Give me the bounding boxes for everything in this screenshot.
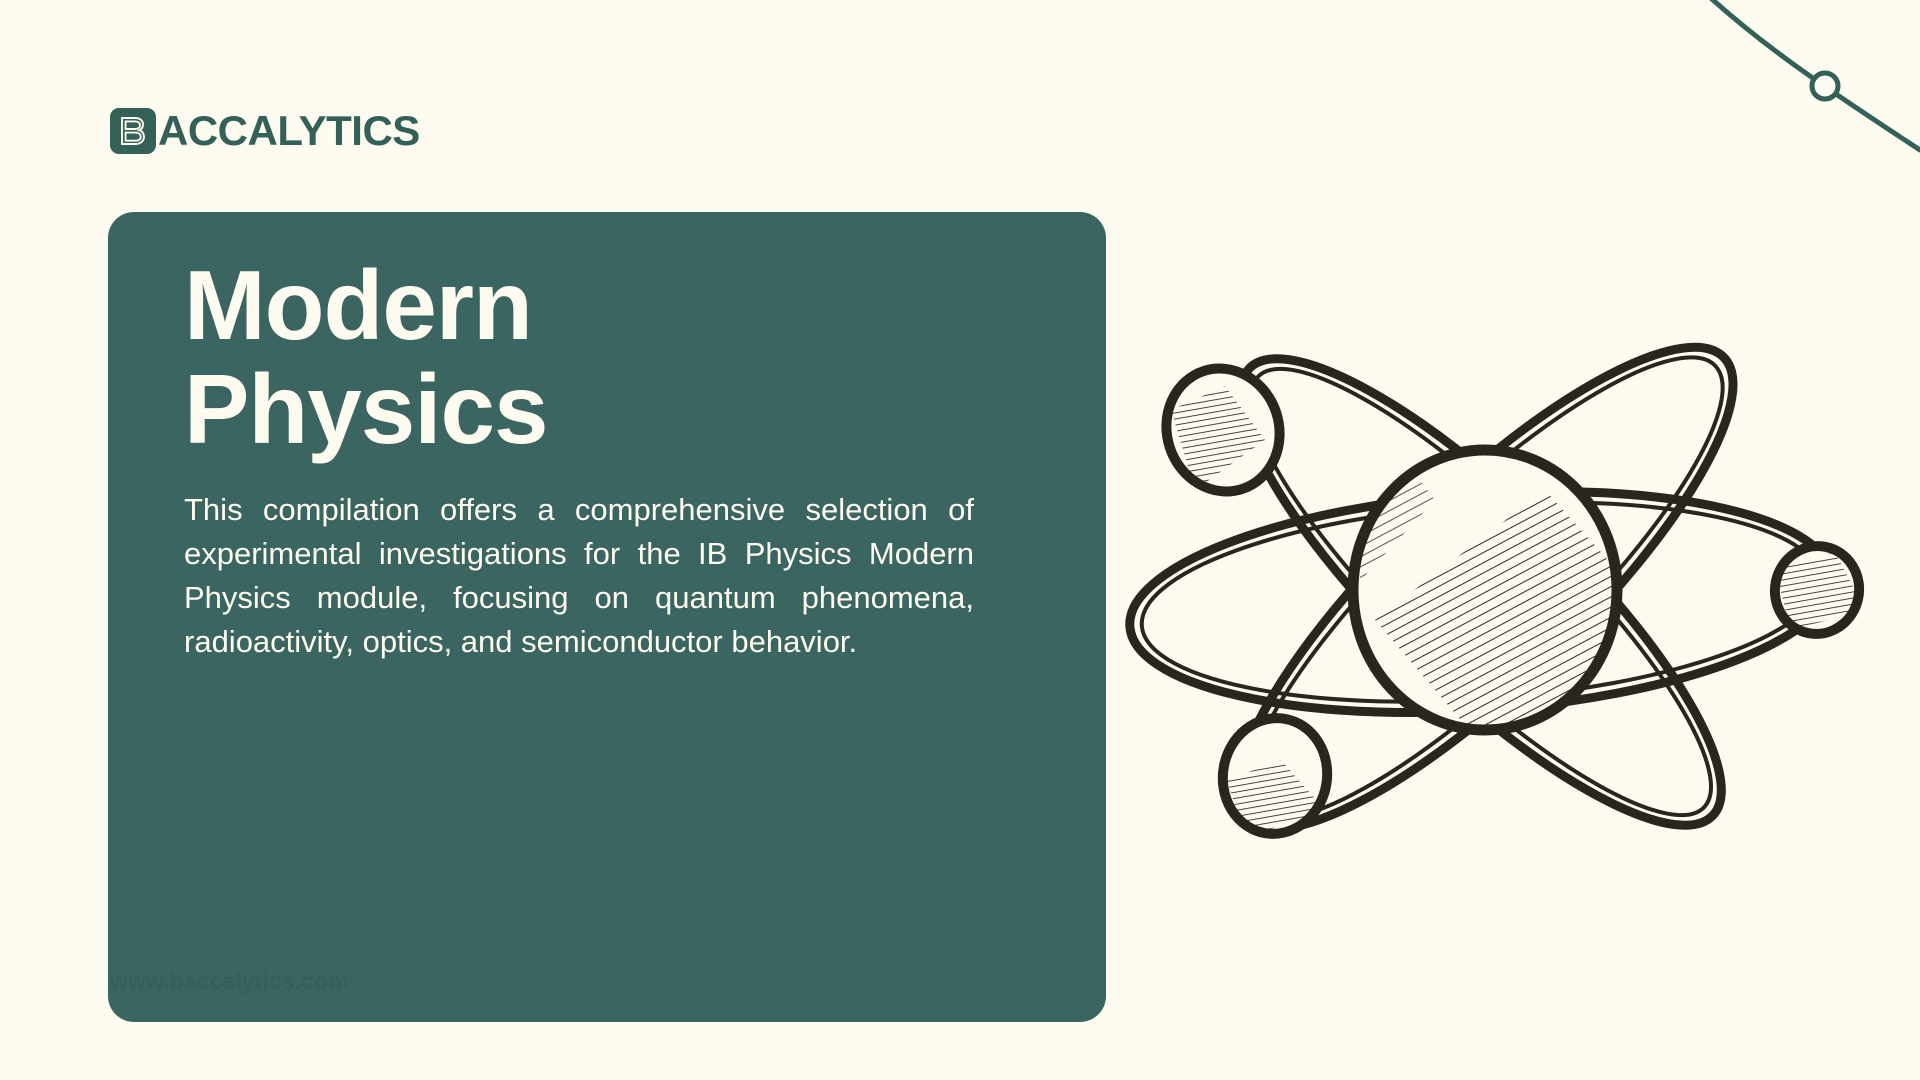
card-description: This compilation offers a comprehensive … xyxy=(184,488,974,664)
logo-wordmark: ACCALYTICS xyxy=(158,110,420,152)
decor-circle-node xyxy=(1812,73,1838,99)
atom-sketch-illustration xyxy=(1075,290,1895,870)
brand-logo[interactable]: ACCALYTICS xyxy=(110,108,420,154)
decor-curve-line xyxy=(1702,0,1920,150)
corner-curve-decoration xyxy=(1660,0,1920,200)
letter-b-monogram-icon xyxy=(110,108,156,154)
slide-canvas: ACCALYTICS Modern Physics This compilati… xyxy=(0,0,1920,1080)
site-url[interactable]: www.baccalytics.com xyxy=(110,968,349,995)
content-card: Modern Physics This compilation offers a… xyxy=(108,212,1106,1022)
page-title: Modern Physics xyxy=(184,254,1042,462)
